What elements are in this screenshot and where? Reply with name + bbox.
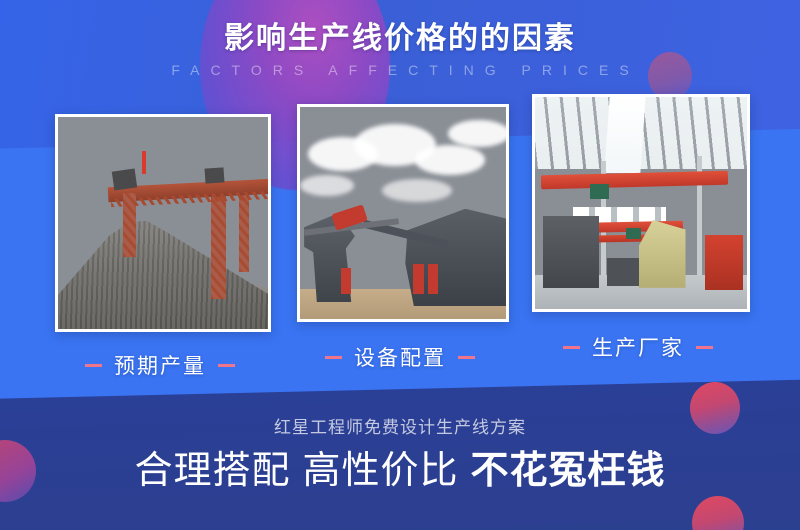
promo-banner: 影响生产线价格的的因素 FACTORS AFFECTING PRICES <box>0 0 800 530</box>
dash-left-icon <box>325 356 342 359</box>
footer-headline-part-1: 合理搭配 <box>134 450 290 492</box>
footer-subtitle: 红星工程师免费设计生产线方案 <box>0 418 800 438</box>
caption-text: 预期产量 <box>114 355 206 378</box>
caption-manufacturer: 生产厂家 <box>532 332 744 362</box>
caption-equipment-configuration: 设备配置 <box>297 342 503 372</box>
caption-expected-output: 预期产量 <box>55 350 265 380</box>
footer-headline-emphasis: 不花冤枉钱 <box>471 450 666 492</box>
card-manufacturer[interactable] <box>532 94 750 312</box>
dash-right-icon <box>458 356 475 359</box>
dash-left-icon <box>85 364 102 367</box>
dash-left-icon <box>563 346 580 349</box>
footer-headline-part-2: 高性价比 <box>302 450 458 492</box>
photo-aggregate-stockpile <box>58 117 268 329</box>
dash-right-icon <box>696 346 713 349</box>
photo-crushing-plant <box>300 107 506 319</box>
footer-headline: 合理搭配高性价比不花冤枉钱 <box>0 450 800 494</box>
card-gallery: 预期产量 设备配置 生产厂家 <box>0 0 800 400</box>
caption-text: 设备配置 <box>354 347 446 370</box>
photo-factory-workshop <box>535 97 747 309</box>
card-expected-output[interactable] <box>55 114 271 332</box>
card-equipment-configuration[interactable] <box>297 104 509 322</box>
caption-text: 生产厂家 <box>592 337 684 360</box>
footer: 红星工程师免费设计生产线方案 合理搭配高性价比不花冤枉钱 <box>0 418 800 494</box>
dash-right-icon <box>218 364 235 367</box>
